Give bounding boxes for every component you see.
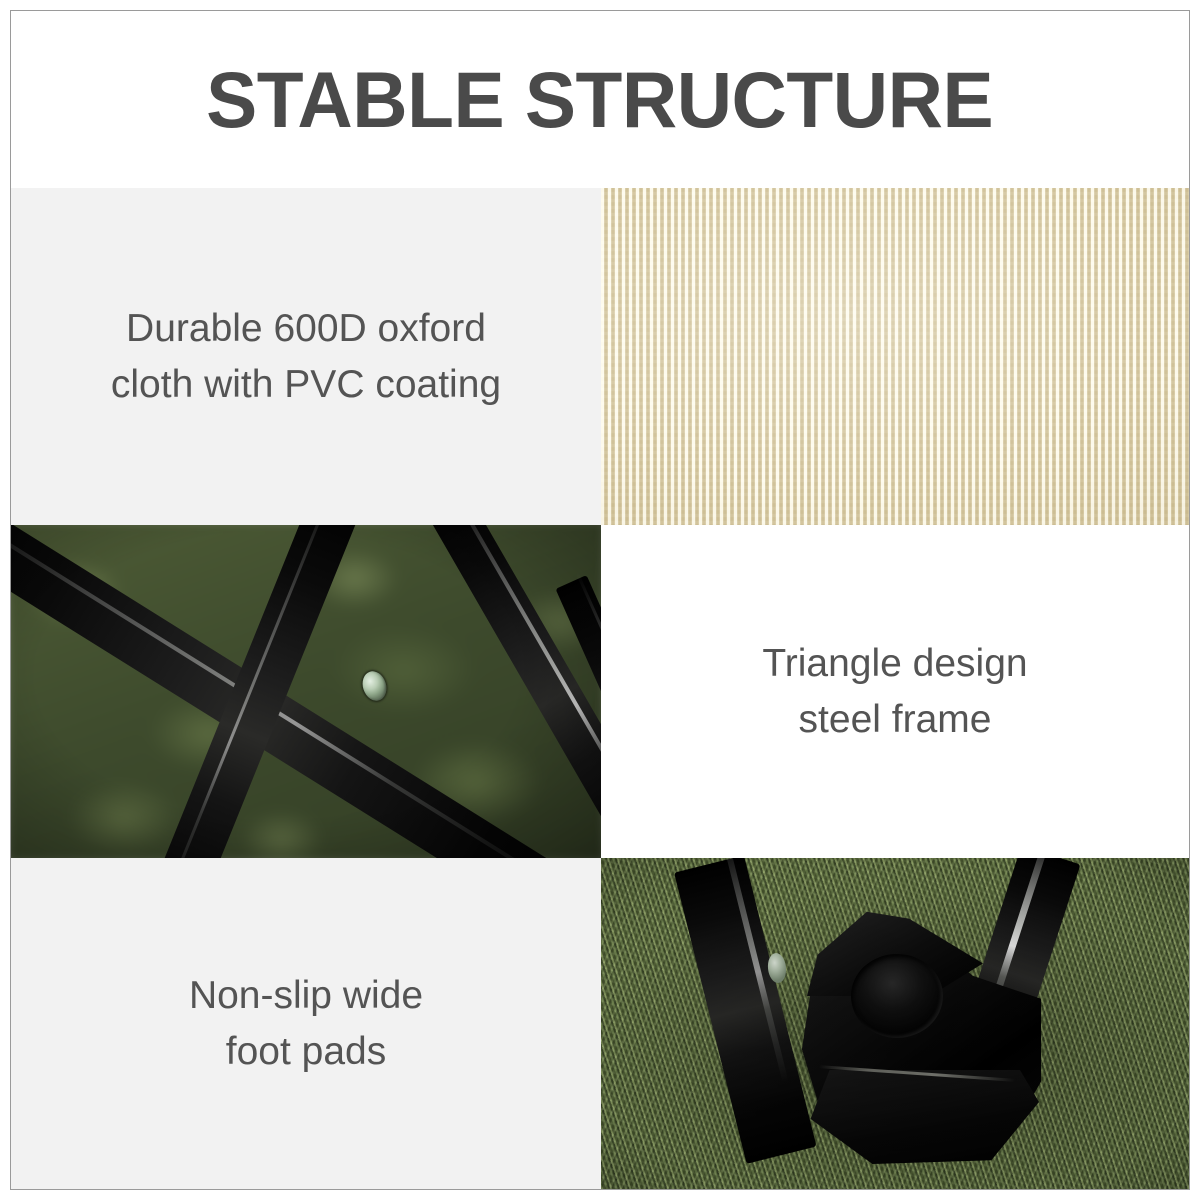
feature-foot-pads-caption-cell: Non-slip wide foot pads [11, 858, 601, 1189]
oxford-fabric-sheen [601, 188, 1189, 525]
feature-steel-frame-caption: Triangle design steel frame [762, 636, 1027, 747]
feature-steel-frame-photo [11, 525, 601, 858]
feature-foot-pads-photo [601, 858, 1189, 1189]
page-title: STABLE STRUCTURE [207, 60, 994, 139]
feature-foot-pads-caption: Non-slip wide foot pads [189, 968, 423, 1079]
feature-oxford-cloth-photo [601, 188, 1189, 525]
turf-shadow-overlay [601, 858, 1189, 1189]
infographic-frame: STABLE STRUCTURE Durable 600D oxford clo… [10, 10, 1190, 1190]
feature-oxford-cloth-caption: Durable 600D oxford cloth with PVC coati… [111, 301, 501, 412]
infographic-page: STABLE STRUCTURE Durable 600D oxford clo… [0, 0, 1200, 1200]
header-band: STABLE STRUCTURE [11, 11, 1189, 188]
feature-oxford-cloth-caption-cell: Durable 600D oxford cloth with PVC coati… [11, 188, 601, 525]
feature-steel-frame-caption-cell: Triangle design steel frame [601, 525, 1189, 858]
photo-vignette [11, 525, 601, 858]
